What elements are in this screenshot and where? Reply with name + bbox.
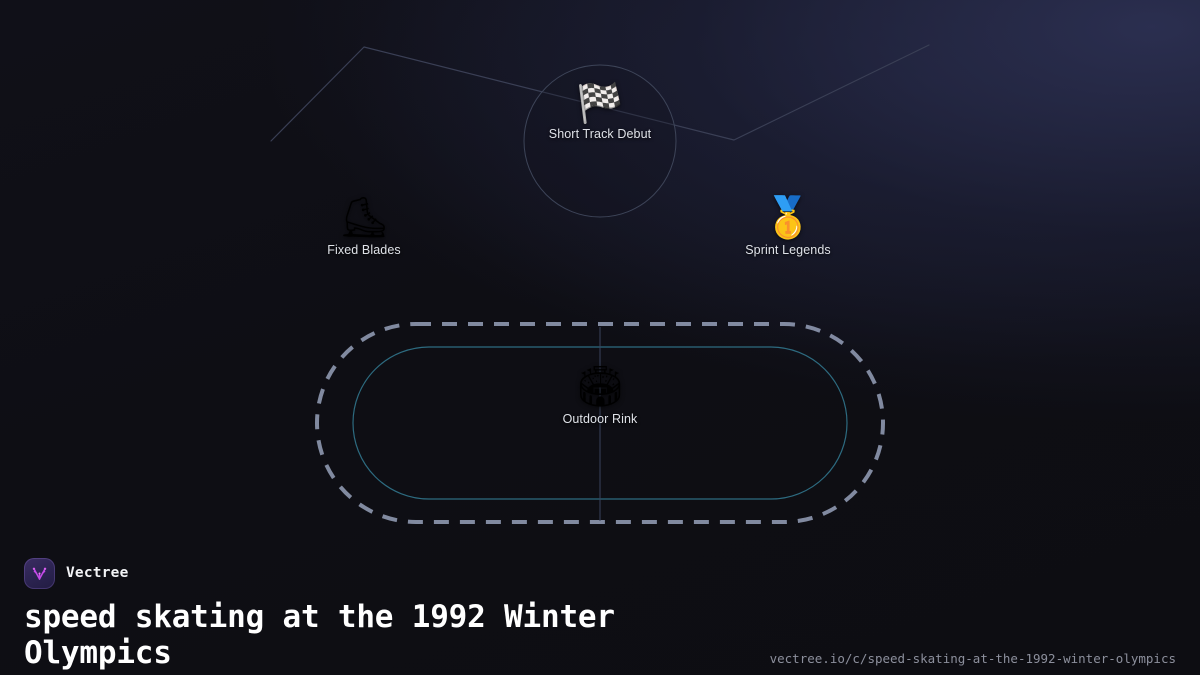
stadium-icon: 🏟 bbox=[575, 365, 626, 409]
node-label: Outdoor Rink bbox=[563, 412, 638, 426]
node-label: Sprint Legends bbox=[745, 243, 831, 257]
caption-footer: Vectree speed skating at the 1992 Winter… bbox=[0, 532, 1200, 675]
node-label: Fixed Blades bbox=[327, 243, 400, 257]
node-label: Short Track Debut bbox=[549, 127, 651, 141]
vectree-logo-icon bbox=[24, 558, 55, 589]
node-outdoor-rink[interactable]: 🏟 Outdoor Rink bbox=[510, 365, 690, 426]
node-short-track-debut[interactable]: 🏁 Short Track Debut bbox=[510, 82, 690, 141]
node-fixed-blades[interactable]: ⛸ Fixed Blades bbox=[274, 196, 454, 257]
gold-medal-icon: 🥇 bbox=[763, 196, 813, 240]
node-sprint-legends[interactable]: 🥇 Sprint Legends bbox=[698, 196, 878, 257]
page-url: vectree.io/c/speed-skating-at-the-1992-w… bbox=[770, 651, 1176, 671]
caption-row: speed skating at the 1992 Winter Olympic… bbox=[24, 599, 1176, 671]
brand-name: Vectree bbox=[66, 565, 129, 581]
checkered-flag-icon: 🏁 bbox=[576, 82, 623, 124]
page-title: speed skating at the 1992 Winter Olympic… bbox=[24, 599, 724, 671]
brand: Vectree bbox=[24, 558, 1176, 588]
ice-skate-icon: ⛸ bbox=[339, 196, 390, 240]
